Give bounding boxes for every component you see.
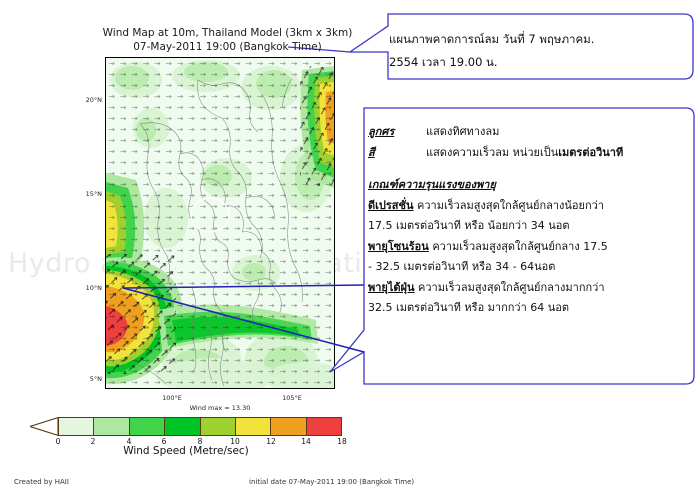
colorbar-seg-2 [130,418,165,435]
storm-term-depression: ดีเปรสชั่น [368,199,414,212]
spacer [368,163,686,175]
legend-key-color: สี [368,143,426,164]
colorbar-gradient [58,417,342,436]
storm-entry-typhoon: พายุไต้ฝุ่น ความเร็วลมสูงสุดใกล้ศูนย์กลา… [368,278,686,319]
legend-row-arrow: ลูกศร แสดงทิศทางลม [368,122,686,143]
legend-value-arrow: แสดงทิศทางลม [426,122,499,143]
colorbar-seg-1 [94,418,129,435]
colorbar-seg-3 [165,418,200,435]
map-title-line1: Wind Map at 10m, Thailand Model (3km x 3… [85,26,370,40]
legend-key-arrow: ลูกศร [368,122,426,143]
wind-map-canvas [106,58,334,388]
wind-max-label: Wind max = 13.30 [100,404,340,412]
y-tick-5n: 5°N [78,375,102,383]
footer-initial-date: initial date 07-May-2011 19:00 (Bangkok … [249,478,414,486]
storm-desc-depression-2: 17.5 เมตรต่อวินาที หรือ น้อยกว่า 34 นอต [368,216,686,237]
storm-scale-title: เกณฑ์ความรุนแรงของพายุ [368,175,686,196]
legend-value-color-unit: เมตรต่อวินาที [558,146,623,159]
storm-desc-typhoon-2: 32.5 เมตรต่อวินาที หรือ มากกว่า 64 นอต [368,298,686,319]
map-title-line2: 07-May-2011 19:00 (Bangkok Time) [85,40,370,54]
colorbar-seg-6 [271,418,306,435]
legend-row-color: สี แสดงความเร็วลม หน่วยเป็นเมตรต่อวินาที [368,143,686,164]
footer-created-by: Created by HAII [14,478,69,486]
colorbar-seg-4 [201,418,236,435]
legend-value-color: แสดงความเร็วลม หน่วยเป็นเมตรต่อวินาที [426,143,623,164]
colorbar-seg-5 [236,418,271,435]
storm-desc-depression-1: ความเร็วลมสูงสุดใกล้ศูนย์กลางน้อยกว่า [417,199,604,212]
colorbar-seg-7 [307,418,341,435]
legend-value-color-plain: แสดงความเร็วลม หน่วยเป็น [426,146,558,159]
storm-desc-tropical-storm-1: ความเร็วลมสูงสุดใกล้ศูนย์กลาง 17.5 [432,240,607,253]
wind-map-plot[interactable] [105,57,335,389]
callout-top-line1: แผนภาพคาดการณ์ลม วันที่ 7 พฤษภาคม. [389,28,679,51]
y-tick-15n: 15°N [78,190,102,198]
x-tick-100e: 100°E [152,394,192,402]
y-tick-20n: 20°N [78,96,102,104]
colorbar-caption: Wind Speed (Metre/sec) [30,445,342,457]
colorbar: 0 2 4 6 8 10 12 14 18 [30,417,342,436]
storm-desc-tropical-storm-2: - 32.5 เมตรต่อวินาที หรือ 34 - 64นอต [368,257,686,278]
storm-desc-typhoon-1: ความเร็วลมสูงสุดใกล้ศูนย์กลางมากกว่า [418,281,605,294]
x-tick-105e: 105°E [272,394,312,402]
colorbar-seg-0 [59,418,94,435]
colorbar-min-arrow [30,417,59,436]
callout-top-text: แผนภาพคาดการณ์ลม วันที่ 7 พฤษภาคม. 2554 … [389,28,679,74]
y-tick-10n: 10°N [78,284,102,292]
map-title: Wind Map at 10m, Thailand Model (3km x 3… [85,26,370,54]
storm-term-typhoon: พายุไต้ฝุ่น [368,281,415,294]
storm-entry-tropical-storm: พายุโซนร้อน ความเร็วลมสูงสุดใกล้ศูนย์กลา… [368,237,686,278]
callout-top-line2: 2554 เวลา 19.00 น. [389,51,679,74]
storm-entry-depression: ดีเปรสชั่น ความเร็วลมสูงสุดใกล้ศูนย์กลาง… [368,196,686,237]
callout-main-text: ลูกศร แสดงทิศทางลม สี แสดงความเร็วลม หน่… [368,122,686,319]
storm-term-tropical-storm: พายุโซนร้อน [368,240,429,253]
